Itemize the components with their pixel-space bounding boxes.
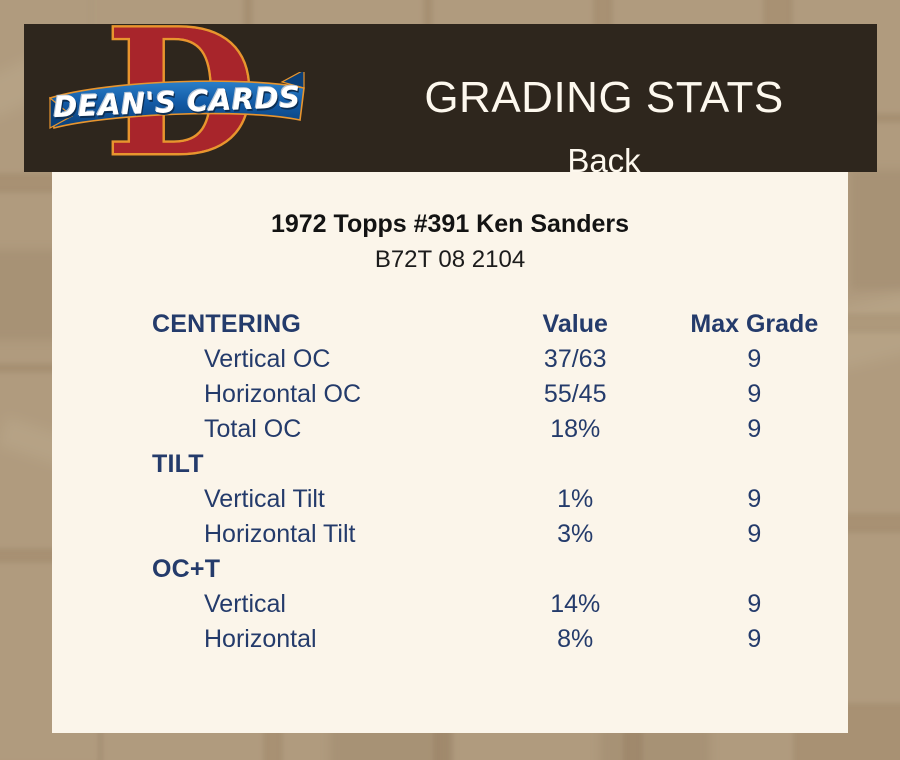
table-row: Vertical OC37/639 (52, 342, 848, 377)
stat-label: Vertical (52, 587, 490, 622)
table-row: Horizontal OC55/459 (52, 377, 848, 412)
table-row: Vertical Tilt1%9 (52, 482, 848, 517)
table-row: Horizontal Tilt3%9 (52, 517, 848, 552)
stat-max-grade: 9 (661, 517, 848, 552)
table-row: Horizontal8%9 (52, 622, 848, 657)
table-row: Vertical14%9 (52, 587, 848, 622)
stat-label: Horizontal Tilt (52, 517, 490, 552)
card-title: 1972 Topps #391 Ken Sanders (52, 210, 848, 239)
page-subtitle: Back (324, 142, 884, 180)
stat-max-grade: 9 (661, 412, 848, 447)
stat-value: 18% (490, 412, 661, 447)
deans-cards-logo: D D DEAN'S CARDS (48, 28, 308, 168)
stat-label: Vertical OC (52, 342, 490, 377)
stat-max-grade: 9 (661, 587, 848, 622)
logo-brand-text: DEAN'S CARDS (47, 67, 307, 138)
section-name: CENTERING (52, 307, 490, 342)
stat-max-grade: 9 (661, 622, 848, 657)
section-spacer-value (490, 447, 661, 482)
stat-value: 1% (490, 482, 661, 517)
stat-value: 14% (490, 587, 661, 622)
section-header-row: CENTERINGValueMax Grade (52, 307, 848, 342)
stat-value: 37/63 (490, 342, 661, 377)
section-name: OC+T (52, 552, 490, 587)
stat-value: 8% (490, 622, 661, 657)
column-header-max-grade: Max Grade (661, 307, 848, 342)
section-spacer-grade (661, 552, 848, 587)
section-name: TILT (52, 447, 490, 482)
section-spacer-grade (661, 447, 848, 482)
section-header-row: OC+T (52, 552, 848, 587)
content-panel: 1972 Topps #391 Ken Sanders B72T 08 2104… (52, 172, 848, 733)
table-row: Total OC18%9 (52, 412, 848, 447)
grading-stats-table: CENTERINGValueMax GradeVertical OC37/639… (52, 307, 848, 657)
stat-max-grade: 9 (661, 482, 848, 517)
stat-max-grade: 9 (661, 377, 848, 412)
section-spacer-value (490, 552, 661, 587)
column-header-value: Value (490, 307, 661, 342)
card-serial: B72T 08 2104 (52, 246, 848, 274)
stat-label: Total OC (52, 412, 490, 447)
stat-value: 55/45 (490, 377, 661, 412)
stat-label: Horizontal (52, 622, 490, 657)
stat-value: 3% (490, 517, 661, 552)
section-header-row: TILT (52, 447, 848, 482)
stat-label: Horizontal OC (52, 377, 490, 412)
header-band: D D DEAN'S CARDS GRADING STATS Back (24, 24, 877, 172)
stat-label: Vertical Tilt (52, 482, 490, 517)
stat-max-grade: 9 (661, 342, 848, 377)
page-title: GRADING STATS (324, 72, 884, 124)
